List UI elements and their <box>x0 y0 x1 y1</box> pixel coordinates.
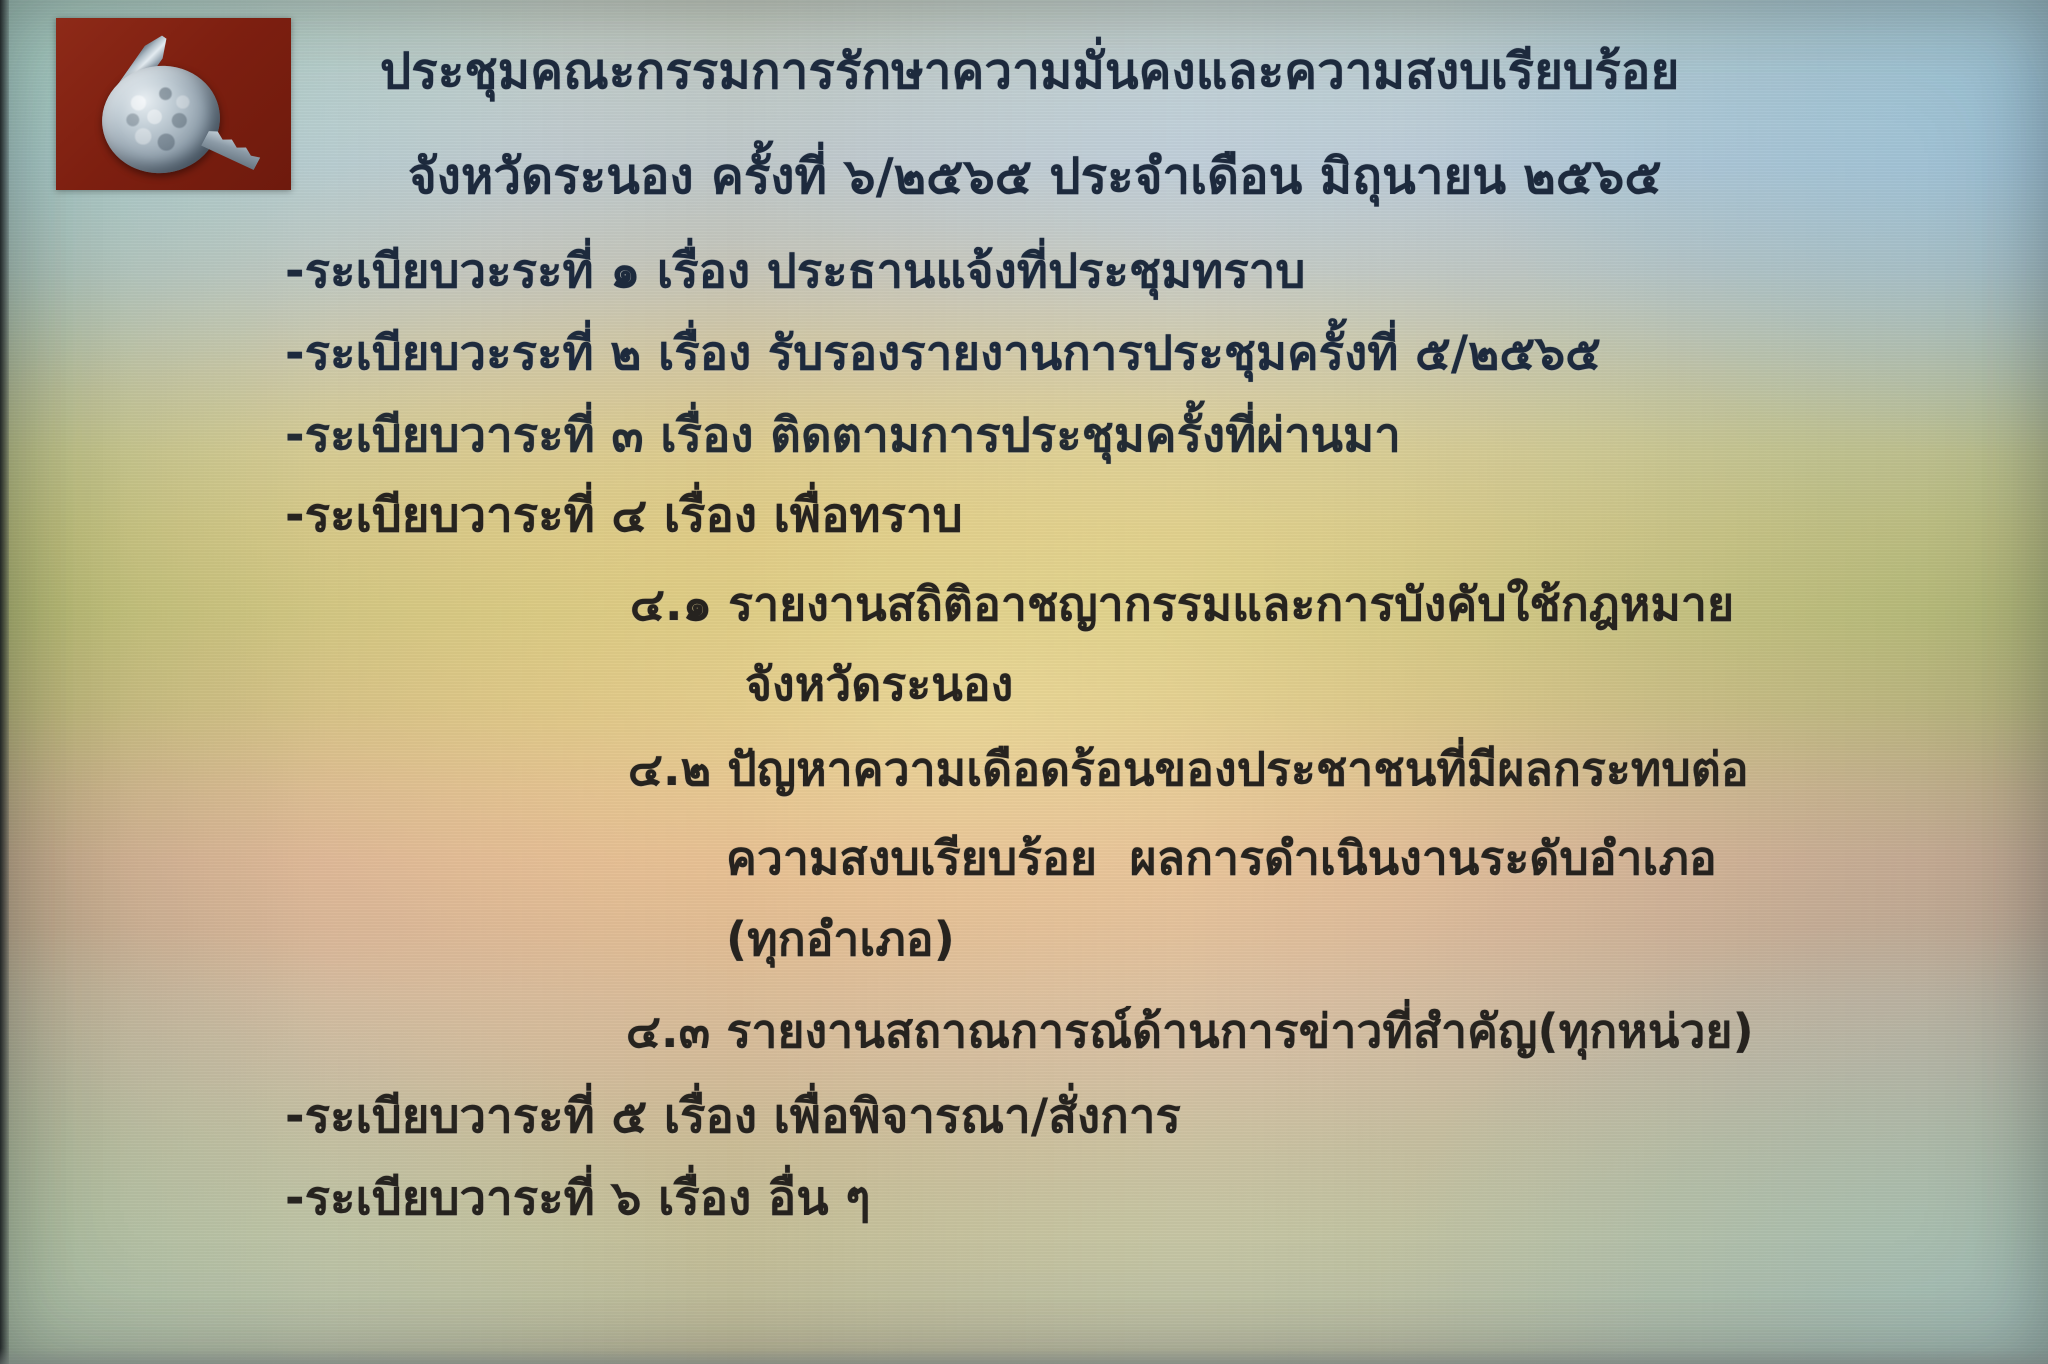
agenda-item-5: -ระเบียบวาระที่ ๕ เรื่อง เพื่อพิจารณา/สั… <box>285 1078 1181 1153</box>
agenda-item-4-1: ๔.๑ รายงานสถิติอาชญากรรมและการบังคับใช้ก… <box>630 568 1734 641</box>
agenda-item-2: -ระเบียบวะระที่ ๒ เรื่อง รับรองรายงานการ… <box>285 315 1601 390</box>
slide-title-line-1: ประชุมคณะกรรมการรักษาความมั่นคงและความสง… <box>380 32 1679 110</box>
agenda-item-4-3: ๔.๓ รายงานสถาณการณ์ด้านการข่าวที่สำคัญ(ท… <box>626 995 1754 1068</box>
agenda-item-4: -ระเบียบวาระที่ ๔ เรื่อง เพื่อทราบ <box>285 477 963 552</box>
agenda-item-1: -ระเบียบวะระที่ ๑ เรื่อง ประธานแจ้งที่ปร… <box>285 233 1306 308</box>
agenda-item-4-2-continuation-2: (ทุกอำเภอ) <box>726 903 955 976</box>
slide-title-line-2: จังหวัดระนอง ครั้งที่ ๖/๒๕๖๕ ประจำเดือน … <box>408 137 1662 215</box>
agenda-item-4-1-continuation: จังหวัดระนอง <box>745 648 1013 721</box>
agenda-item-3: -ระเบียบวาระที่ ๓ เรื่อง ติดตามการประชุม… <box>285 397 1401 472</box>
agenda-item-6: -ระเบียบวาระที่ ๖ เรื่อง อื่น ๆ <box>285 1160 871 1235</box>
slide-text-body: ประชุมคณะกรรมการรักษาความมั่นคงและความสง… <box>0 0 2048 1364</box>
projected-slide-photo: ประชุมคณะกรรมการรักษาความมั่นคงและความสง… <box>0 0 2048 1364</box>
agenda-item-4-2-continuation-1: ความสงบเรียบร้อย ผลการดำเนินงานระดับอำเภ… <box>726 822 1717 895</box>
agenda-item-4-2: ๔.๒ ปัญหาความเดือดร้อนของประชาชนที่มีผลก… <box>628 733 1749 806</box>
